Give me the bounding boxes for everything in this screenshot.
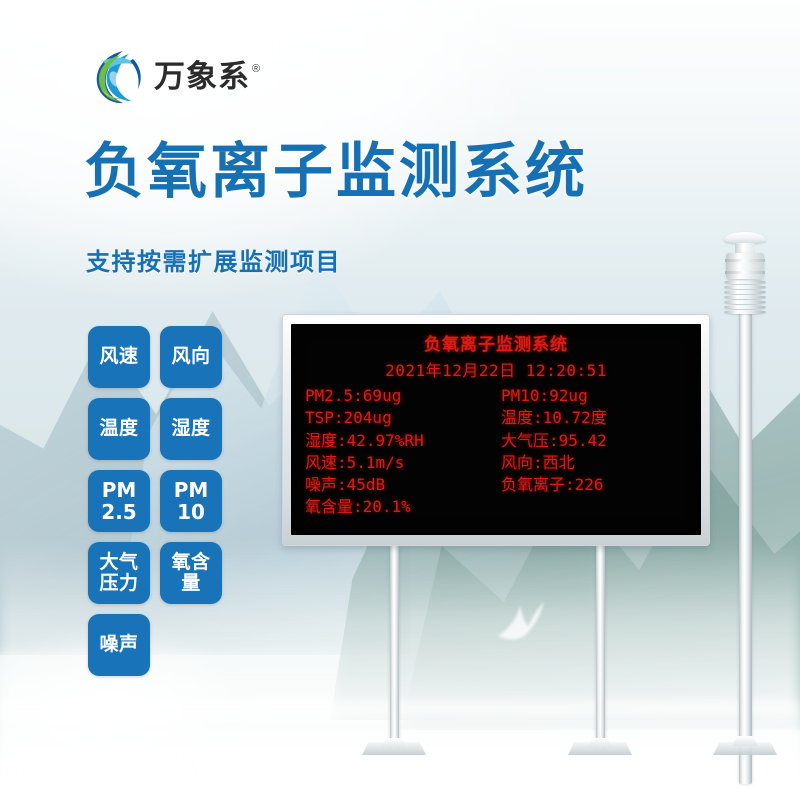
badge-row: 大气 压力 氧含 量: [88, 542, 240, 604]
badge-row: PM 2.5 PM 10: [88, 470, 240, 532]
badge-line1: 噪声: [99, 634, 138, 655]
board-frame: 负氧离子监测系统 2021年12月22日 12:20:51 PM2.5:69ug…: [282, 314, 710, 546]
bird-icon: [494, 596, 548, 642]
support-pole-left: [390, 545, 399, 750]
badge-line2: 压力: [99, 573, 138, 594]
badge-line2: 量: [181, 573, 201, 594]
reading-pm10: PM10:92ug: [501, 385, 689, 406]
board-screen: 负氧离子监测系统 2021年12月22日 12:20:51 PM2.5:69ug…: [291, 324, 701, 535]
weather-sensor-icon: [721, 232, 769, 784]
reading-pm25: PM2.5:69ug: [305, 385, 501, 406]
reading-oxygen: 氧含量:20.1%: [305, 496, 501, 517]
badge-line1: 温度: [99, 418, 138, 439]
reading-negative-ion: 负氧离子:226: [501, 474, 689, 495]
sensor-neck: [735, 243, 755, 253]
brand-name: 万象系: [154, 62, 250, 93]
badge-line1: PM: [174, 479, 209, 501]
reading-noise: 噪声:45dB: [305, 474, 501, 495]
badge-line1: PM: [102, 479, 137, 501]
reading-tsp: TSP:204ug: [305, 407, 501, 428]
sensor-cap: [724, 232, 766, 243]
badge-row: 温度 湿度: [88, 398, 240, 460]
reading-pressure: 大气压:95.42: [501, 430, 689, 451]
badge-temperature[interactable]: 温度: [88, 398, 150, 460]
badge-pm10[interactable]: PM 10: [160, 470, 222, 532]
globe-swirl-logo-icon: [93, 49, 145, 105]
badge-wind-direction[interactable]: 风向: [160, 326, 222, 388]
badge-oxygen[interactable]: 氧含 量: [160, 542, 222, 604]
badge-humidity[interactable]: 湿度: [160, 398, 222, 460]
badge-pm25[interactable]: PM 2.5: [88, 470, 150, 532]
badge-wind-speed[interactable]: 风速: [88, 326, 150, 388]
sensor-radiation-shield: [724, 279, 766, 314]
page-title: 负氧离子监测系统: [84, 141, 588, 204]
badge-line1: 氧含: [171, 552, 210, 573]
badge-row: 噪声: [88, 614, 240, 676]
badge-pressure[interactable]: 大气 压力: [88, 542, 150, 604]
registered-mark: ®: [252, 64, 260, 75]
badge-row: 风速 风向: [88, 326, 240, 388]
badge-line1: 大气: [99, 552, 138, 573]
badge-noise[interactable]: 噪声: [88, 614, 150, 676]
sensor-body: [726, 253, 764, 279]
feature-badge-list: 风速 风向 温度 湿度 PM 2.5 PM 10: [88, 326, 240, 686]
badge-line2: 10: [177, 501, 205, 523]
page-subtitle: 支持按需扩展监测项目: [86, 242, 341, 277]
reading-wind-direction: 风向:西北: [501, 452, 689, 473]
led-display-board: 负氧离子监测系统 2021年12月22日 12:20:51 PM2.5:69ug…: [282, 314, 710, 546]
sensor-mast: [739, 314, 752, 784]
board-datetime: 2021年12月22日 12:20:51: [291, 357, 701, 381]
board-readings-grid: PM2.5:69ug PM10:92ug TSP:204ug 温度:10.72度…: [291, 385, 701, 518]
badge-line1: 风速: [99, 346, 138, 367]
brand-logo: 万象系 ®: [93, 49, 260, 105]
badge-line1: 湿度: [171, 418, 210, 439]
promo-banner: 万象系 ® 负氧离子监测系统 支持按需扩展监测项目 风速 风向 温度 湿度 PM: [0, 0, 800, 800]
reading-wind-speed: 风速:5.1m/s: [305, 452, 501, 473]
badge-line2: 2.5: [101, 501, 136, 523]
badge-line1: 风向: [171, 346, 210, 367]
support-pole-right: [596, 545, 605, 750]
reading-humidity: 湿度:42.97%RH: [305, 430, 501, 451]
board-title: 负氧离子监测系统: [291, 330, 701, 355]
reading-temperature: 温度:10.72度: [501, 407, 689, 428]
